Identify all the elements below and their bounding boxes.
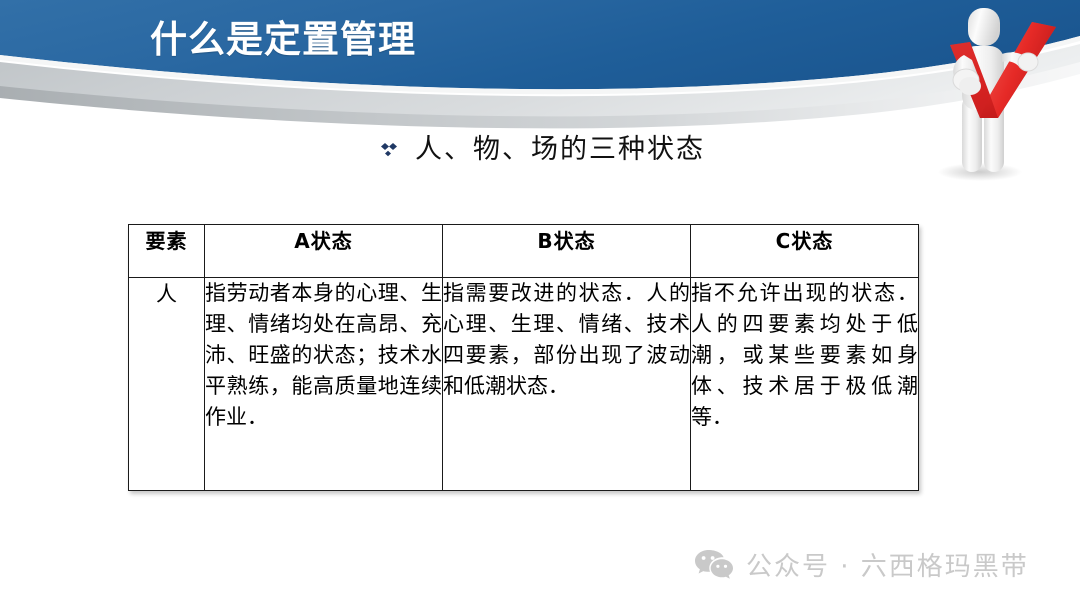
- cell-state-b: 指需要改进的状态．人的心理、生理、情绪、技术四要素，部份出现了波动和低潮状态．: [443, 278, 691, 491]
- row-label-person: 人: [129, 278, 205, 491]
- table-header: 要素 A状态 B状态 C状态: [129, 225, 919, 278]
- three-states-table: 要素 A状态 B状态 C状态 人 指劳动者本身的心理、生理、情绪均处在高昂、充沛…: [128, 224, 919, 491]
- table-body: 人 指劳动者本身的心理、生理、情绪均处在高昂、充沛、旺盛的状态；技术水平熟练，能…: [129, 278, 919, 491]
- table-row: 人 指劳动者本身的心理、生理、情绪均处在高昂、充沛、旺盛的状态；技术水平熟练，能…: [129, 278, 919, 491]
- column-header-element: 要素: [129, 225, 205, 278]
- column-header-state-c: C状态: [691, 225, 919, 278]
- mannequin-with-red-check-icon: [880, 0, 1080, 200]
- subtitle-text: 人、物、场的三种状态: [415, 133, 705, 167]
- cell-state-c: 指不允许出现的状态．人的四要素均处于低潮，或某些要素如身体、技术居于极低潮等．: [691, 278, 919, 491]
- wechat-icon: [694, 548, 734, 582]
- diamond-cluster-bullet-icon: [375, 137, 401, 163]
- table-header-row: 要素 A状态 B状态 C状态: [129, 225, 919, 278]
- watermark: 公众号 · 六西格玛黑带: [694, 546, 1029, 583]
- page-title: 什么是定置管理: [150, 16, 570, 64]
- slide-canvas: 什么是定置管理: [0, 0, 1080, 608]
- column-header-state-b: B状态: [443, 225, 691, 278]
- cell-state-a: 指劳动者本身的心理、生理、情绪均处在高昂、充沛、旺盛的状态；技术水平熟练，能高质…: [205, 278, 443, 491]
- column-header-state-a: A状态: [205, 225, 443, 278]
- watermark-text: 公众号 · 六西格玛黑带: [746, 546, 1029, 583]
